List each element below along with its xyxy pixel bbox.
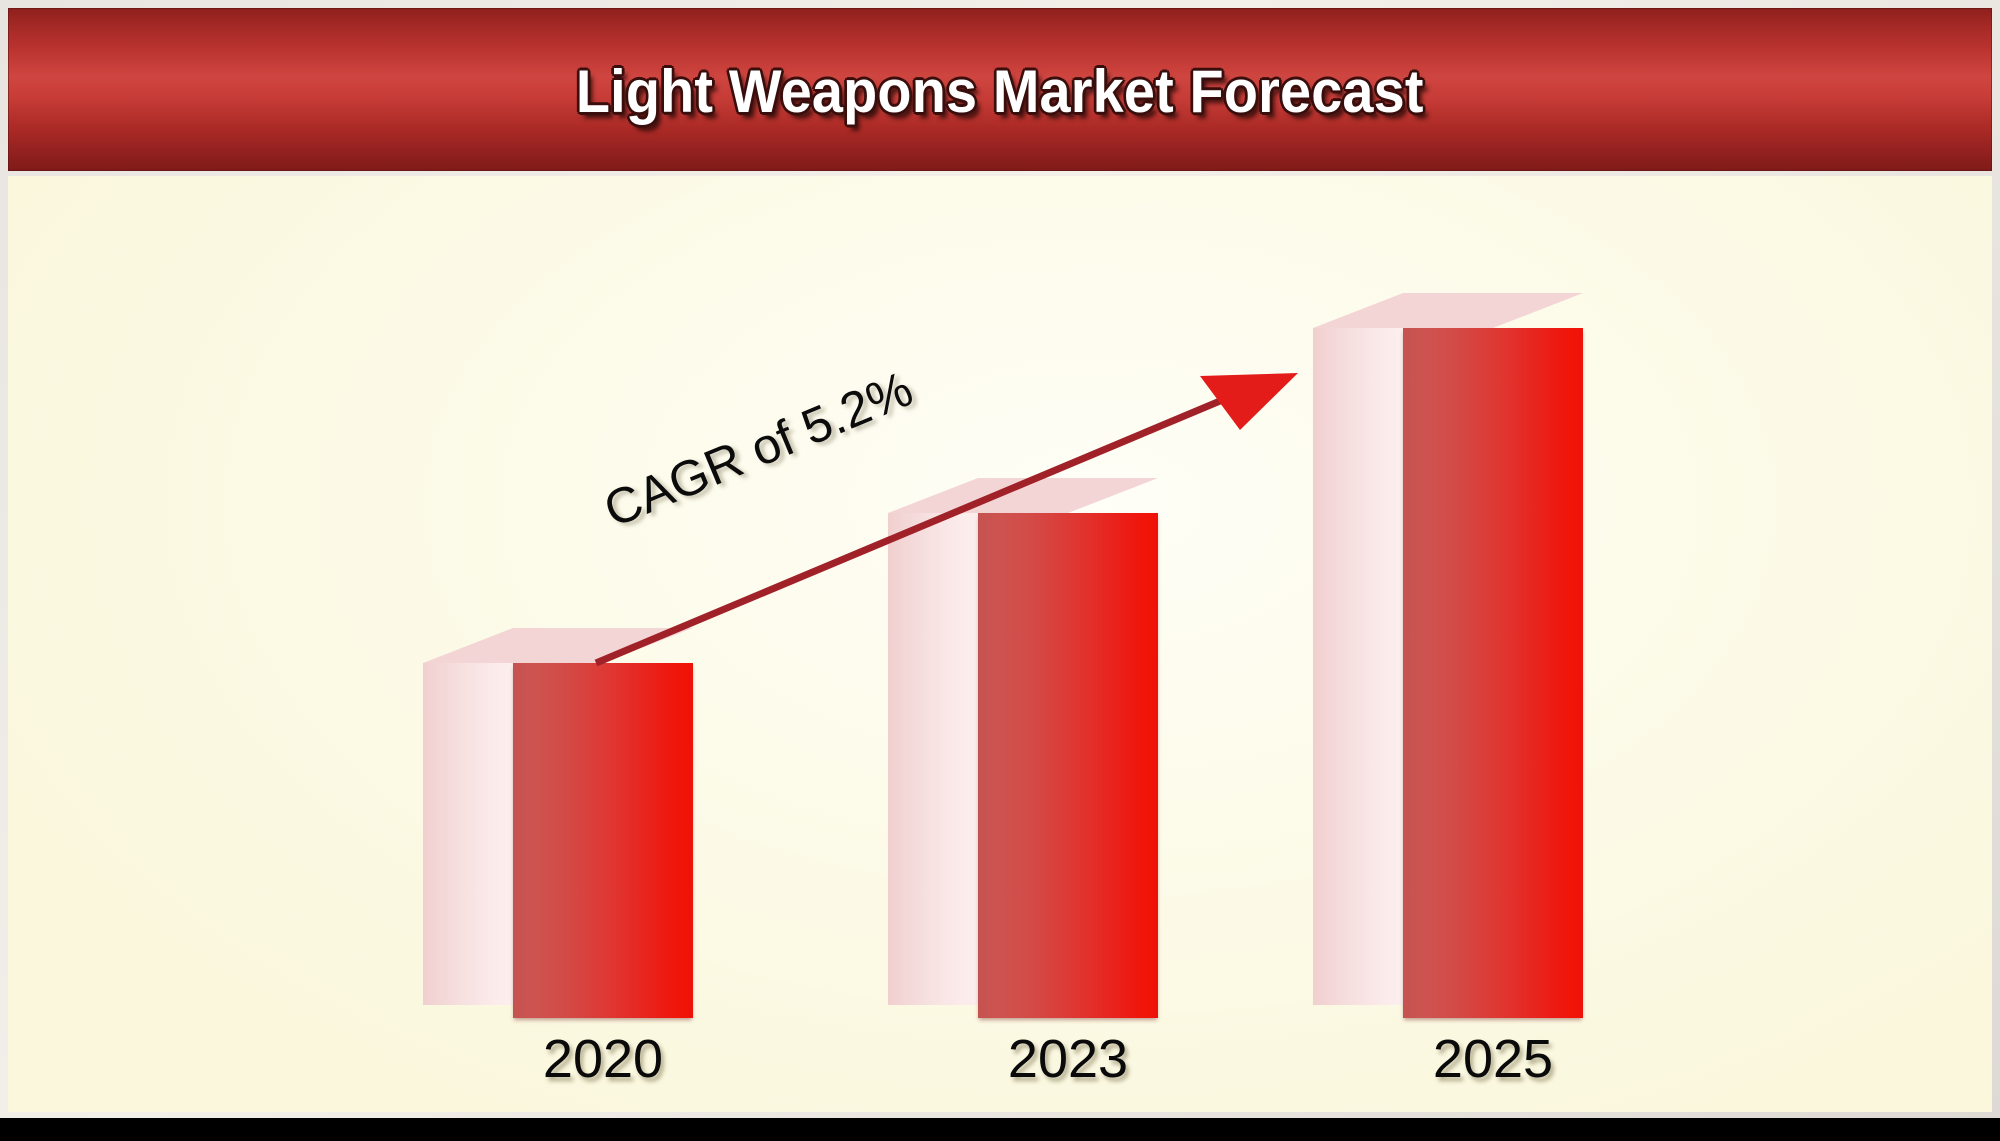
x-axis-label-2020: 2020: [513, 1028, 693, 1090]
header-banner: Light Weapons Market Forecast: [8, 8, 1992, 171]
x-axis-label-2025: 2025: [1403, 1028, 1583, 1090]
page-title: Light Weapons Market Forecast: [576, 53, 1424, 126]
x-axis-label-2023: 2023: [978, 1028, 1158, 1090]
bar-front-face-2025: [1403, 328, 1583, 1018]
slide-root: Light Weapons Market Forecast: [0, 0, 2000, 1141]
bar-side-face-2025: [1313, 328, 1411, 1005]
bar-group-2025[interactable]: [8, 176, 1992, 1112]
figure-frame: Light Weapons Market Forecast: [0, 0, 2000, 1120]
bottom-black-strip: [0, 1118, 2000, 1141]
chart-plot-area: CAGR of 5.2% 2020 2023 2025: [8, 176, 1992, 1112]
